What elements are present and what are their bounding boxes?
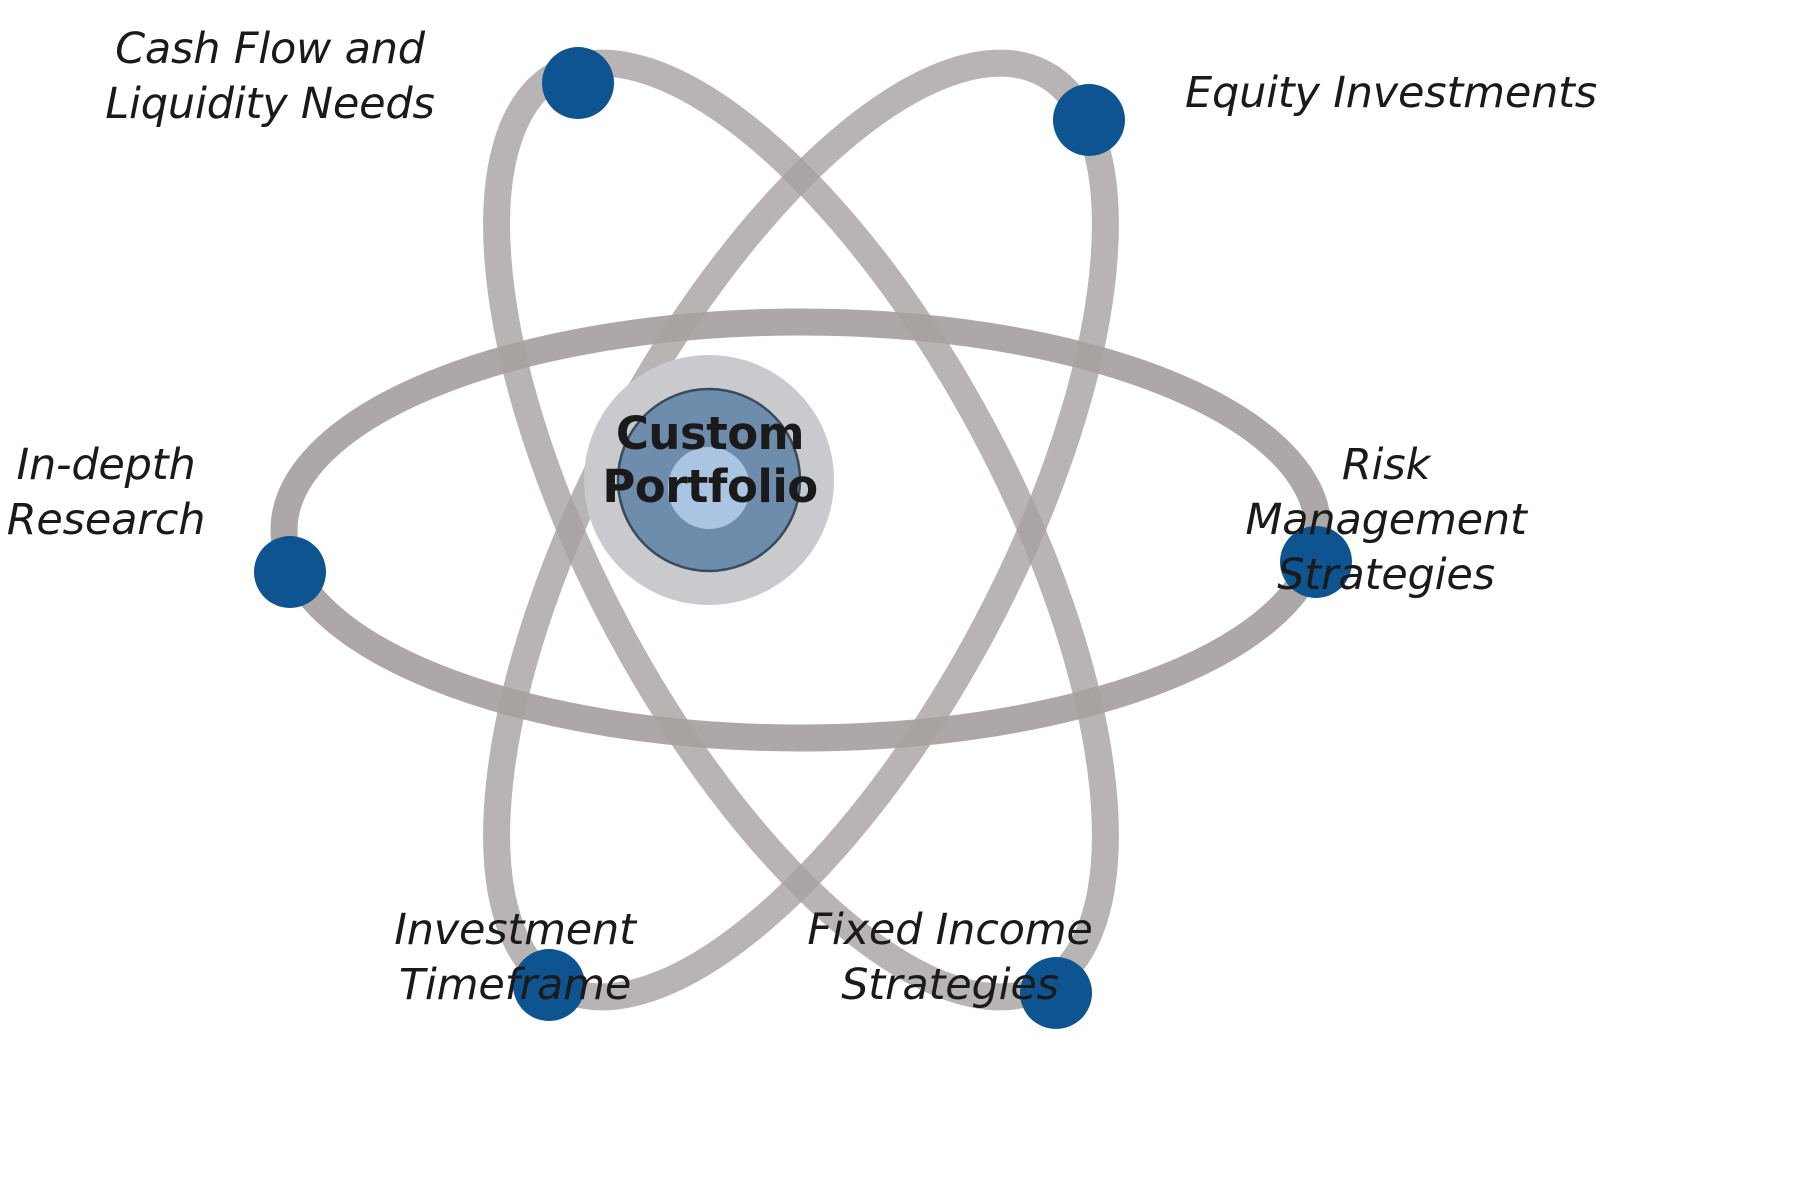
diagram-canvas: Custom Portfolio Cash Flow and Liquidity…	[0, 0, 1802, 1181]
label-fixed-income-strategies: Fixed Income Strategies	[760, 903, 1140, 1013]
center-label: Custom Portfolio	[580, 408, 840, 513]
label-cash-flow-liquidity-needs: Cash Flow and Liquidity Needs	[90, 22, 450, 132]
node-in-depth-research[interactable]	[254, 536, 326, 608]
label-equity-investments: Equity Investments	[1185, 66, 1605, 121]
label-risk-management-strategies: Risk Management Strategies	[1196, 438, 1576, 603]
label-in-depth-research: In-depth Research	[0, 438, 212, 548]
node-equity-investments[interactable]	[1053, 84, 1125, 156]
label-investment-timeframe: Investment Timeframe	[330, 903, 700, 1013]
node-cash-flow-liquidity-needs[interactable]	[542, 47, 614, 119]
